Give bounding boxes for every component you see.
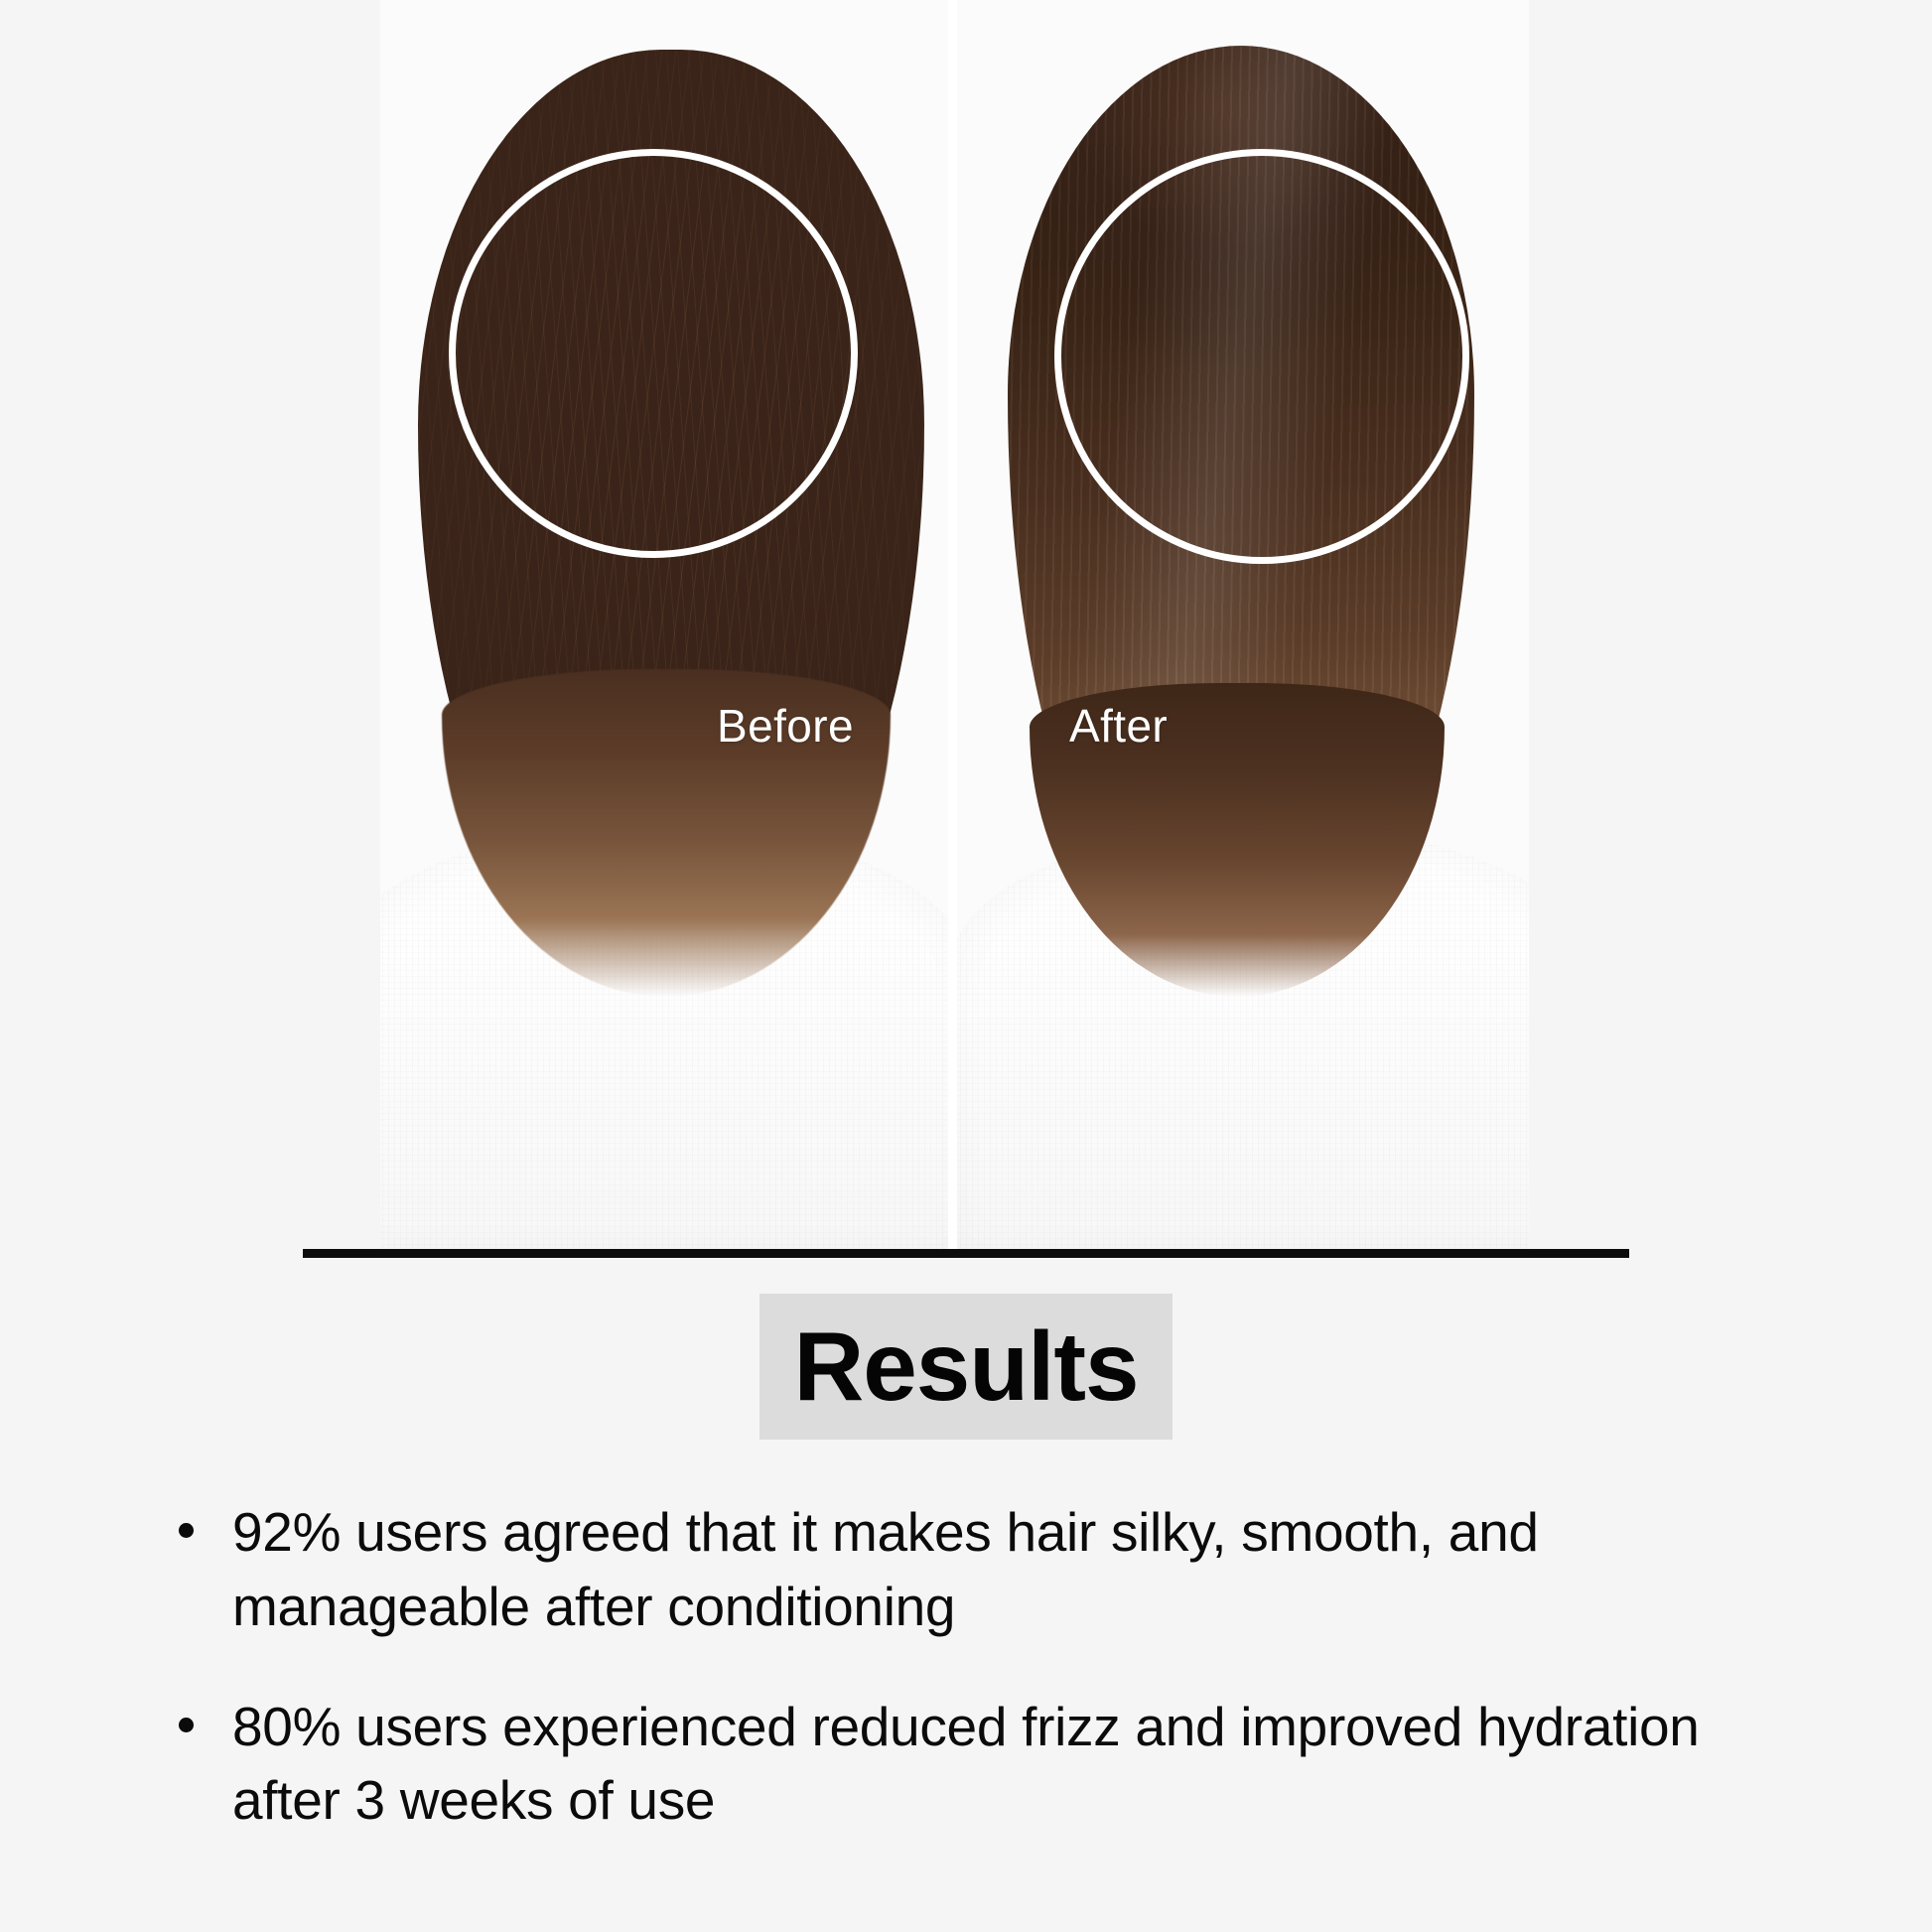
results-heading-container: Results [0, 1294, 1932, 1440]
before-blouse [380, 828, 953, 1257]
bullet-text: 80% users experienced reduced frizz and … [232, 1696, 1700, 1832]
results-bullet-list: 92% users agreed that it makes hair silk… [175, 1495, 1803, 1838]
before-zoom-circle-icon [449, 149, 858, 558]
section-divider-rule [303, 1249, 1629, 1258]
bullet-dot-icon [179, 1718, 194, 1732]
list-item: 80% users experienced reduced frizz and … [175, 1690, 1803, 1839]
poster-canvas: Before After Results 92% users agreed th… [0, 0, 1932, 1932]
after-label: After [1069, 703, 1168, 749]
bullet-text: 92% users agreed that it makes hair silk… [232, 1501, 1539, 1637]
before-after-split-divider [948, 0, 957, 1257]
bullet-dot-icon [179, 1523, 194, 1538]
before-after-comparison: Before After [0, 0, 1932, 1257]
before-label: Before [717, 703, 854, 749]
after-blouse [956, 828, 1529, 1257]
list-item: 92% users agreed that it makes hair silk… [175, 1495, 1803, 1644]
after-zoom-circle-icon [1054, 149, 1469, 564]
results-heading: Results [759, 1294, 1172, 1440]
